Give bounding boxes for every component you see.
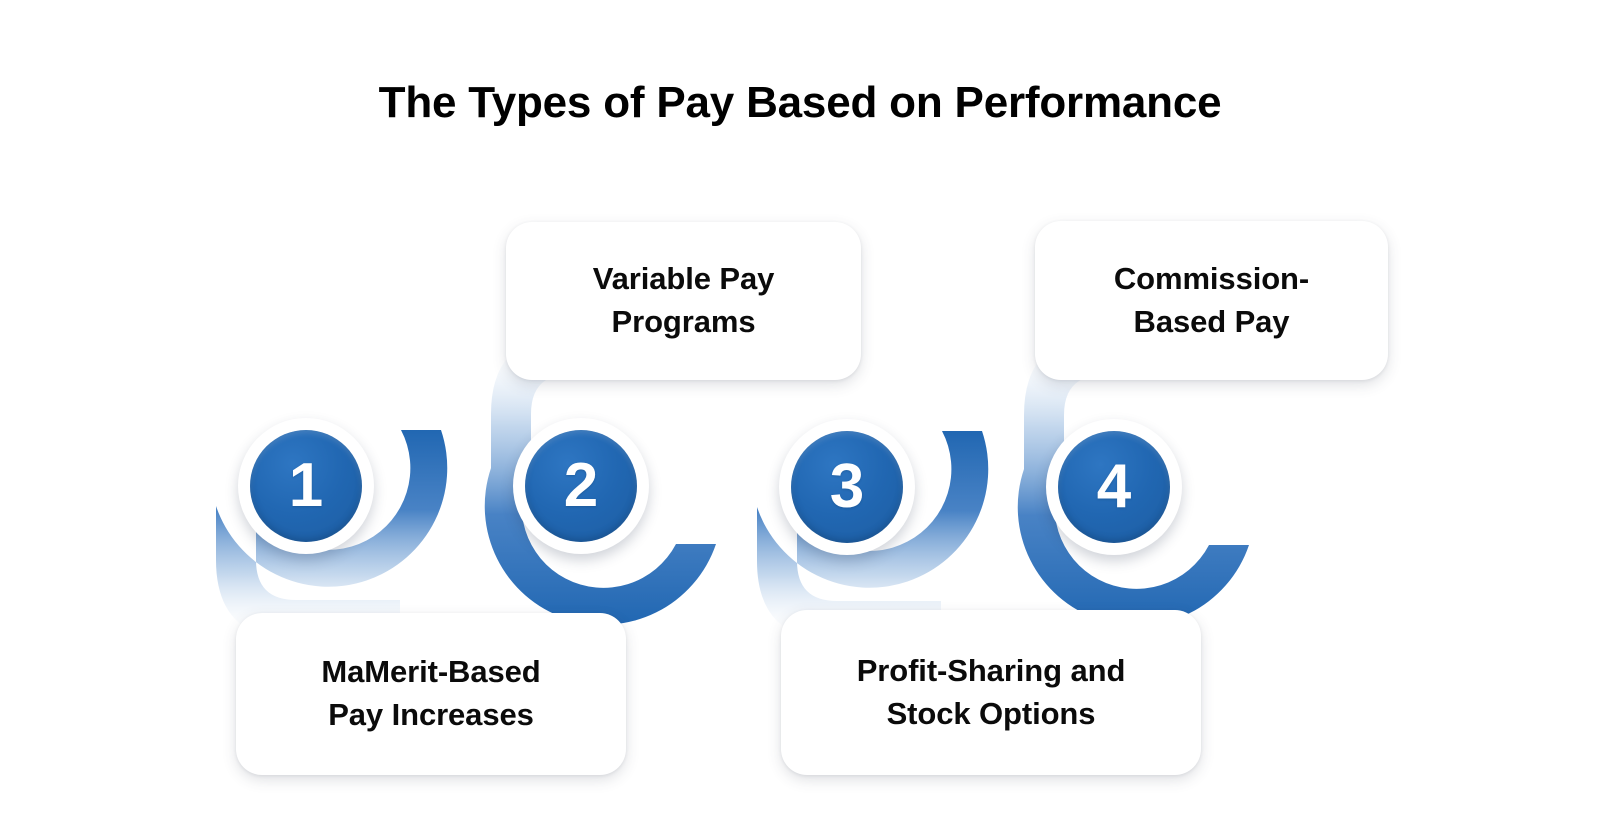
step-card-3-line-2: Stock Options (887, 696, 1096, 731)
step-card-2-label: Variable Pay Programs (579, 258, 789, 344)
step-card-1[interactable]: MaMerit-Based Pay Increases (236, 613, 626, 775)
step-card-4[interactable]: Commission- Based Pay (1035, 221, 1388, 380)
step-card-3[interactable]: Profit-Sharing and Stock Options (781, 610, 1201, 775)
step-badge-4[interactable]: 4 (1046, 419, 1182, 555)
step-badge-1[interactable]: 1 (238, 418, 374, 554)
step-card-4-line-1: Commission- (1114, 261, 1309, 296)
step-badge-3-disc: 3 (791, 431, 903, 543)
infographic-canvas: The Types of Pay Based on Performance (0, 0, 1600, 839)
step-card-2-line-2: Programs (612, 304, 756, 339)
step-badge-2[interactable]: 2 (513, 418, 649, 554)
step-card-3-line-1: Profit-Sharing and (857, 653, 1126, 688)
step-badge-3[interactable]: 3 (779, 419, 915, 555)
step-badge-2-disc: 2 (525, 430, 637, 542)
step-badge-4-number: 4 (1097, 456, 1131, 518)
step-badge-3-number: 3 (830, 456, 864, 518)
step-card-2[interactable]: Variable Pay Programs (506, 222, 861, 380)
step-card-2-line-1: Variable Pay (593, 261, 775, 296)
step-badge-1-number: 1 (289, 455, 323, 517)
step-card-1-line-2: Pay Increases (328, 697, 534, 732)
step-card-3-label: Profit-Sharing and Stock Options (843, 650, 1140, 736)
step-card-1-label: MaMerit-Based Pay Increases (307, 651, 554, 737)
step-card-1-line-1: MaMerit-Based (321, 654, 540, 689)
step-badge-2-number: 2 (564, 455, 598, 517)
step-badge-4-disc: 4 (1058, 431, 1170, 543)
step-card-4-line-2: Based Pay (1134, 304, 1290, 339)
step-badge-1-disc: 1 (250, 430, 362, 542)
step-card-4-label: Commission- Based Pay (1100, 258, 1323, 344)
